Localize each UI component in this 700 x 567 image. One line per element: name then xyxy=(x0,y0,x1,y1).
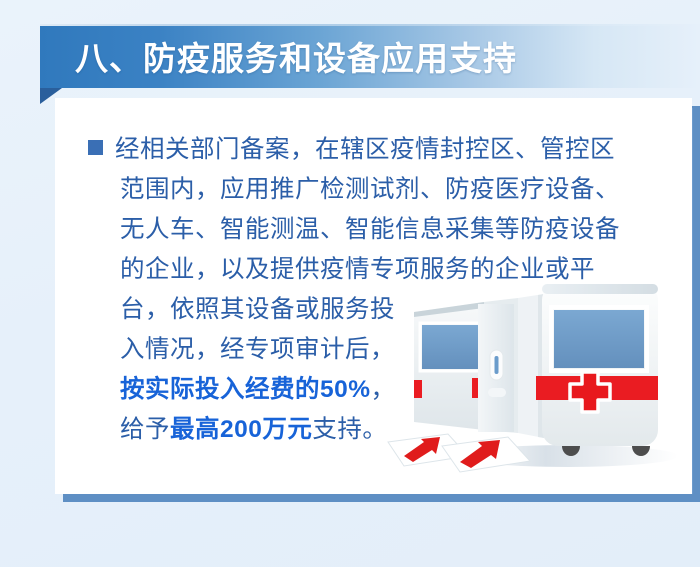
highlight-amount: 最高200万元 xyxy=(170,416,312,443)
body-line-8: 给予最高200万元支持。 xyxy=(88,410,648,450)
body-line-4: 的企业，以及提供疫情专项服务的企业或平 xyxy=(88,250,648,290)
body-line-5: 台，依照其设备或服务投 xyxy=(88,290,648,330)
poster-root: 八、防疫服务和设备应用支持 xyxy=(0,0,700,567)
body-line-3: 无人车、智能测温、智能信息采集等防疫设备 xyxy=(88,210,648,250)
body-line-2: 范围内，应用推广检测试剂、防疫医疗设备、 xyxy=(88,170,648,210)
body-line-1: 经相关部门备案，在辖区疫情封控区、管控区 xyxy=(88,130,648,170)
body-line-7: 按实际投入经费的50%， xyxy=(88,370,648,410)
line8-lead: 给予 xyxy=(120,416,170,443)
title-banner: 八、防疫服务和设备应用支持 xyxy=(40,24,700,88)
line7-tail: ， xyxy=(371,376,396,403)
body-text-block: 经相关部门备案，在辖区疫情封控区、管控区 范围内，应用推广检测试剂、防疫医疗设备… xyxy=(88,130,648,450)
page-title: 八、防疫服务和设备应用支持 xyxy=(75,32,517,80)
body-line-1-text: 经相关部门备案，在辖区疫情封控区、管控区 xyxy=(115,136,615,163)
bullet-square-icon xyxy=(88,140,103,155)
banner-highlight-line xyxy=(40,24,700,26)
line8-tail: 支持。 xyxy=(312,416,387,443)
highlight-percent: 按实际投入经费的50% xyxy=(120,376,371,403)
body-line-6: 入情况，经专项审计后， xyxy=(88,330,648,370)
content-card: 经相关部门备案，在辖区疫情封控区、管控区 范围内，应用推广检测试剂、防疫医疗设备… xyxy=(55,98,692,494)
